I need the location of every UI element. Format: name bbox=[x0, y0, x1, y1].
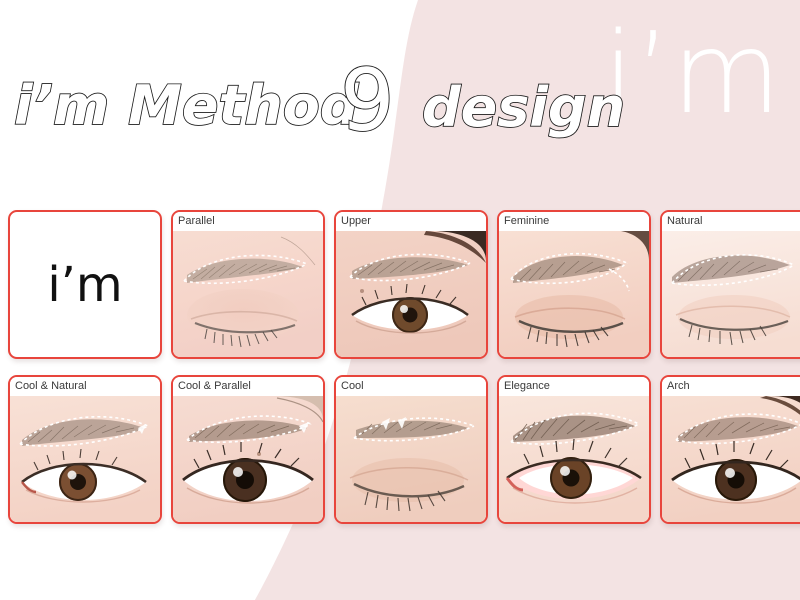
tile-label: Feminine bbox=[499, 212, 649, 231]
poster-canvas: i’m i’m Method 9 design i’m Parallel bbox=[0, 0, 800, 600]
tile-label: Upper bbox=[336, 212, 486, 231]
logo-tile-text: i’m bbox=[47, 261, 122, 309]
tile-label: Cool & Natural bbox=[10, 377, 160, 396]
tile-label: Parallel bbox=[173, 212, 323, 231]
grid-row: i’m Parallel bbox=[8, 210, 794, 359]
title-part2-text: design bbox=[422, 76, 625, 139]
tile-arch[interactable]: Arch bbox=[660, 375, 800, 524]
eyebrow-photo bbox=[336, 396, 486, 522]
tile-cool-parallel[interactable]: Cool & Parallel bbox=[171, 375, 325, 524]
tile-feminine[interactable]: Feminine bbox=[497, 210, 651, 359]
title-part2: design bbox=[422, 76, 625, 139]
tile-label: Natural bbox=[662, 212, 800, 231]
title-number: 9 bbox=[340, 51, 395, 151]
page-title: i’m Method 9 design bbox=[10, 62, 650, 152]
tile-label: Cool & Parallel bbox=[173, 377, 323, 396]
tile-parallel[interactable]: Parallel bbox=[171, 210, 325, 359]
title-number-text: 9 bbox=[340, 51, 395, 151]
eyebrow-photo bbox=[499, 396, 649, 522]
tile-elegance[interactable]: Elegance bbox=[497, 375, 651, 524]
tile-label: Elegance bbox=[499, 377, 649, 396]
grid-row: Cool & Natural bbox=[8, 375, 794, 524]
eyebrow-photo bbox=[173, 396, 323, 522]
title-part1: i’m Method bbox=[14, 74, 360, 137]
tile-cool[interactable]: Cool bbox=[334, 375, 488, 524]
tile-label: Arch bbox=[662, 377, 800, 396]
tile-natural[interactable]: Natural bbox=[660, 210, 800, 359]
eyebrow-photo bbox=[10, 396, 160, 522]
eyebrow-photo bbox=[662, 231, 800, 357]
design-grid: i’m Parallel bbox=[8, 210, 794, 524]
tile-logo[interactable]: i’m bbox=[8, 210, 162, 359]
tile-upper[interactable]: Upper bbox=[334, 210, 488, 359]
tile-label: Cool bbox=[336, 377, 486, 396]
eyebrow-photo bbox=[499, 231, 649, 357]
eyebrow-photo bbox=[336, 231, 486, 357]
title-part1-text: i’m Method bbox=[14, 74, 360, 137]
eyebrow-photo bbox=[662, 396, 800, 522]
eyebrow-photo bbox=[173, 231, 323, 357]
tile-cool-natural[interactable]: Cool & Natural bbox=[8, 375, 162, 524]
